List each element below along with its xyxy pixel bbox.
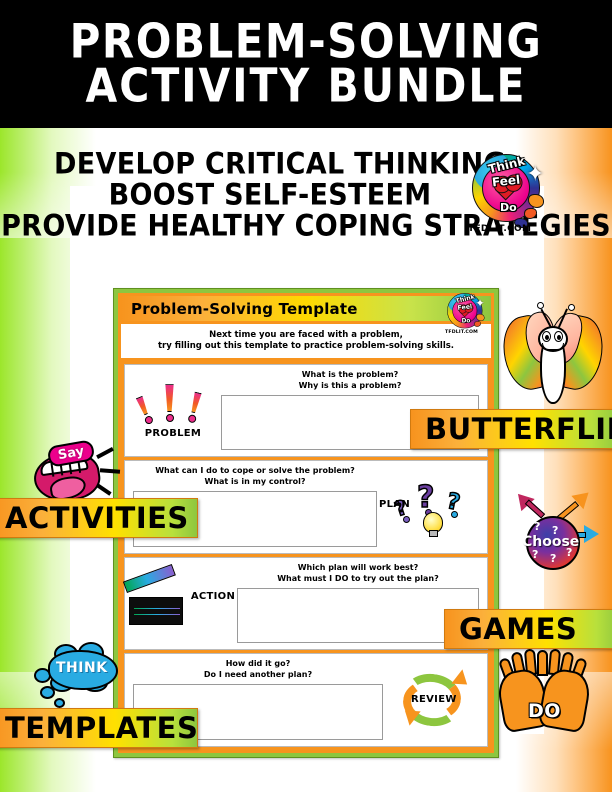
banner-templates[interactable]: TEMPLATES	[0, 708, 198, 748]
do-label: DO	[528, 700, 561, 722]
star-icon: ✦	[526, 162, 544, 187]
think-cloud-icon: THINK	[30, 646, 122, 712]
logo-word-feel: Feel	[491, 173, 520, 190]
banner-butterflies[interactable]: BUTTERFLIES	[410, 409, 612, 449]
action-question-1: Which plan will work best?	[237, 563, 479, 574]
review-question-2: Do I need another plan?	[133, 670, 383, 681]
say-mouth-icon: Say	[28, 443, 112, 505]
problem-question-2: Why is this a problem?	[221, 381, 479, 392]
paint-splat-icon-2	[524, 208, 537, 219]
butterfly-icon	[500, 310, 606, 414]
banner-games[interactable]: GAMES	[444, 609, 612, 649]
action-questions: Which plan will work best? What must I D…	[237, 563, 479, 585]
paint-splat-icon-small-1	[476, 314, 484, 321]
choose-arrows-icon: ? ? ? ? ? Choose	[508, 490, 604, 574]
row-label-plan: PLAN	[379, 499, 410, 510]
worksheet-intro: Next time you are faced with a problem, …	[121, 324, 491, 361]
logo-word-do: Do	[500, 201, 517, 214]
row-label-problem: PROBLEM	[145, 428, 201, 439]
paint-splat-icon-1	[528, 194, 544, 208]
banner-activities-label: ACTIVITIES	[5, 501, 189, 535]
logo-word-do-small: Do	[462, 317, 471, 324]
plan-icon-cell: ? ? ? PLAN	[377, 461, 487, 553]
choose-label: Choose	[522, 534, 579, 550]
plan-question-1: What can I do to cope or solve the probl…	[133, 466, 377, 477]
problem-question-1: What is the problem?	[221, 370, 479, 381]
poster-title-bar: PROBLEM-SOLVING ACTIVITY BUNDLE	[0, 0, 612, 128]
poster-page: PROBLEM-SOLVING ACTIVITY BUNDLE DEVELOP …	[0, 0, 612, 792]
review-questions: How did it go? Do I need another plan?	[133, 659, 383, 681]
worksheet-title: Problem-Solving Template	[131, 300, 358, 318]
think-label: THINK	[56, 660, 108, 676]
banner-templates-label: TEMPLATES	[5, 711, 198, 745]
worksheet-intro-line-2: try filling out this template to practic…	[129, 341, 483, 352]
worksheet-header: Problem-Solving Template	[121, 296, 491, 324]
tfd-logo: Think Feel Do ✦ TFDLIT.COM	[466, 152, 552, 238]
logo-website-url: TFDLIT.COM	[468, 224, 531, 234]
logo-word-feel-small: Feel	[457, 303, 472, 312]
row-label-action: ACTION	[191, 591, 235, 602]
banner-activities[interactable]: ACTIVITIES	[0, 498, 198, 538]
plan-questions: What can I do to cope or solve the probl…	[133, 466, 377, 488]
question-dot-3	[451, 511, 458, 518]
circular-arrows-icon: REVIEW	[397, 672, 473, 728]
action-answer-field[interactable]	[237, 588, 479, 644]
banner-games-label: GAMES	[459, 612, 577, 646]
action-question-2: What must I DO to try out the plan?	[237, 574, 479, 585]
choose-question-1: ?	[534, 520, 540, 533]
row-label-review: REVIEW	[411, 694, 457, 705]
lightbulb-base-icon	[429, 530, 438, 537]
problem-icon-cell: PROBLEM	[125, 365, 221, 457]
clapperboard-icon	[127, 581, 189, 627]
banner-butterflies-label: BUTTERFLIES	[425, 412, 612, 446]
action-icon-cell: ACTION	[125, 558, 237, 650]
exclamation-marks-icon	[137, 382, 209, 428]
poster-title-line-2: ACTIVITY BUNDLE	[86, 62, 527, 111]
choose-question-4: ?	[550, 552, 556, 565]
worksheet-row-action: ACTION Which plan will work best? What m…	[124, 557, 488, 651]
tfd-logo-small: Think Feel Do ✦ TFDLIT.COM	[444, 292, 468, 316]
do-hands-icon: DO	[494, 660, 598, 740]
logo-website-url-small: TFDLIT.COM	[445, 329, 478, 334]
review-question-1: How did it go?	[133, 659, 383, 670]
review-icon-cell: REVIEW	[383, 654, 487, 746]
question-dot-1	[403, 516, 410, 523]
plan-question-2: What is in my control?	[133, 477, 377, 488]
problem-questions: What is the problem? Why is this a probl…	[221, 370, 479, 392]
worksheet-intro-line-1: Next time you are faced with a problem,	[129, 330, 483, 341]
star-icon-small: ✦	[475, 297, 485, 310]
